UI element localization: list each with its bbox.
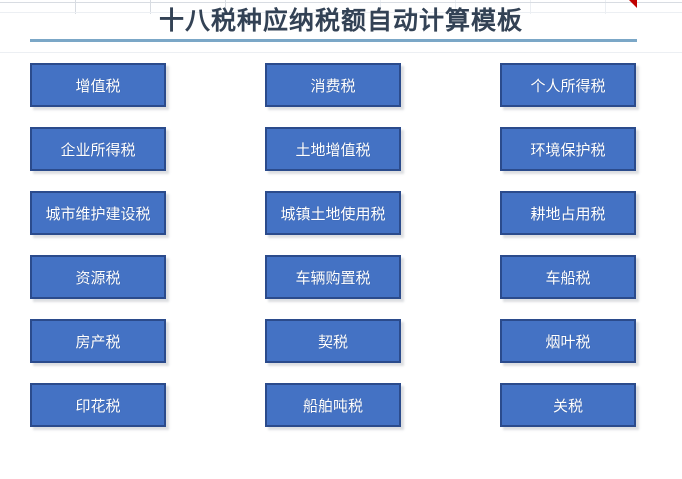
tax-button[interactable]: 环境保护税: [500, 127, 636, 171]
tax-button[interactable]: 耕地占用税: [500, 191, 636, 235]
tax-button[interactable]: 城市维护建设税: [30, 191, 166, 235]
tax-button[interactable]: 个人所得税: [500, 63, 636, 107]
tax-button-grid: 增值税消费税个人所得税企业所得税土地增值税环境保护税城市维护建设税城镇土地使用税…: [0, 0, 682, 479]
tax-button[interactable]: 增值税: [30, 63, 166, 107]
tax-button[interactable]: 船舶吨税: [265, 383, 401, 427]
tax-button[interactable]: 车辆购置税: [265, 255, 401, 299]
tax-button[interactable]: 城镇土地使用税: [265, 191, 401, 235]
tax-button[interactable]: 消费税: [265, 63, 401, 107]
tax-button[interactable]: 关税: [500, 383, 636, 427]
tax-button[interactable]: 契税: [265, 319, 401, 363]
tax-button[interactable]: 烟叶税: [500, 319, 636, 363]
tax-button[interactable]: 车船税: [500, 255, 636, 299]
tax-button[interactable]: 企业所得税: [30, 127, 166, 171]
tax-button[interactable]: 印花税: [30, 383, 166, 427]
tax-button[interactable]: 房产税: [30, 319, 166, 363]
tax-button[interactable]: 资源税: [30, 255, 166, 299]
tax-button[interactable]: 土地增值税: [265, 127, 401, 171]
